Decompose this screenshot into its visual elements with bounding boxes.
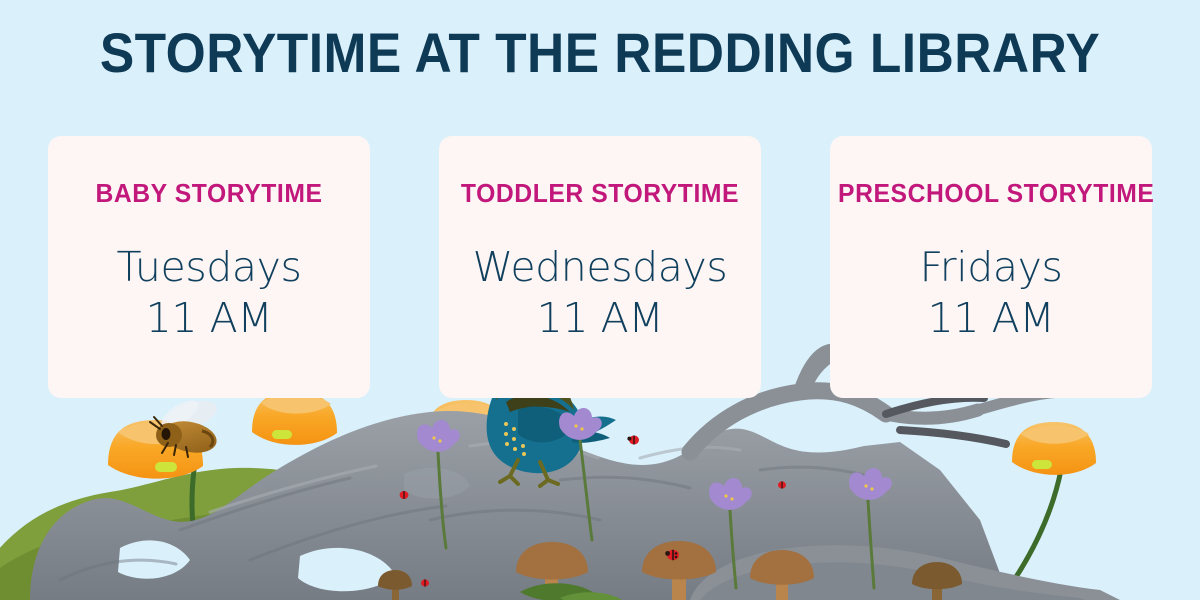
storytime-card-list: BABY STORYTIME Tuesdays 11 AM TODDLER ST… <box>48 136 1152 398</box>
storytime-card-preschool[interactable]: PRESCHOOL STORYTIME Fridays 11 AM <box>830 136 1152 398</box>
card-day-baby: Tuesdays <box>48 242 370 293</box>
card-heading-preschool: PRESCHOOL STORYTIME <box>838 178 1144 208</box>
card-heading-baby: BABY STORYTIME <box>56 178 362 208</box>
storytime-card-toddler[interactable]: TODDLER STORYTIME Wednesdays 11 AM <box>439 136 761 398</box>
card-time-baby: 11 AM <box>48 293 370 344</box>
card-day-preschool: Fridays <box>830 242 1152 293</box>
page-title: STORYTIME AT THE REDDING LIBRARY <box>48 22 1152 84</box>
card-body-baby: Tuesdays 11 AM <box>48 242 370 344</box>
card-body-toddler: Wednesdays 11 AM <box>439 242 761 344</box>
poster-canvas: STORYTIME AT THE REDDING LIBRARY BABY ST… <box>0 0 1200 600</box>
card-body-preschool: Fridays 11 AM <box>830 242 1152 344</box>
card-time-preschool: 11 AM <box>830 293 1152 344</box>
storytime-card-baby[interactable]: BABY STORYTIME Tuesdays 11 AM <box>48 136 370 398</box>
card-day-toddler: Wednesdays <box>439 242 761 293</box>
card-time-toddler: 11 AM <box>439 293 761 344</box>
card-heading-toddler: TODDLER STORYTIME <box>447 178 753 208</box>
